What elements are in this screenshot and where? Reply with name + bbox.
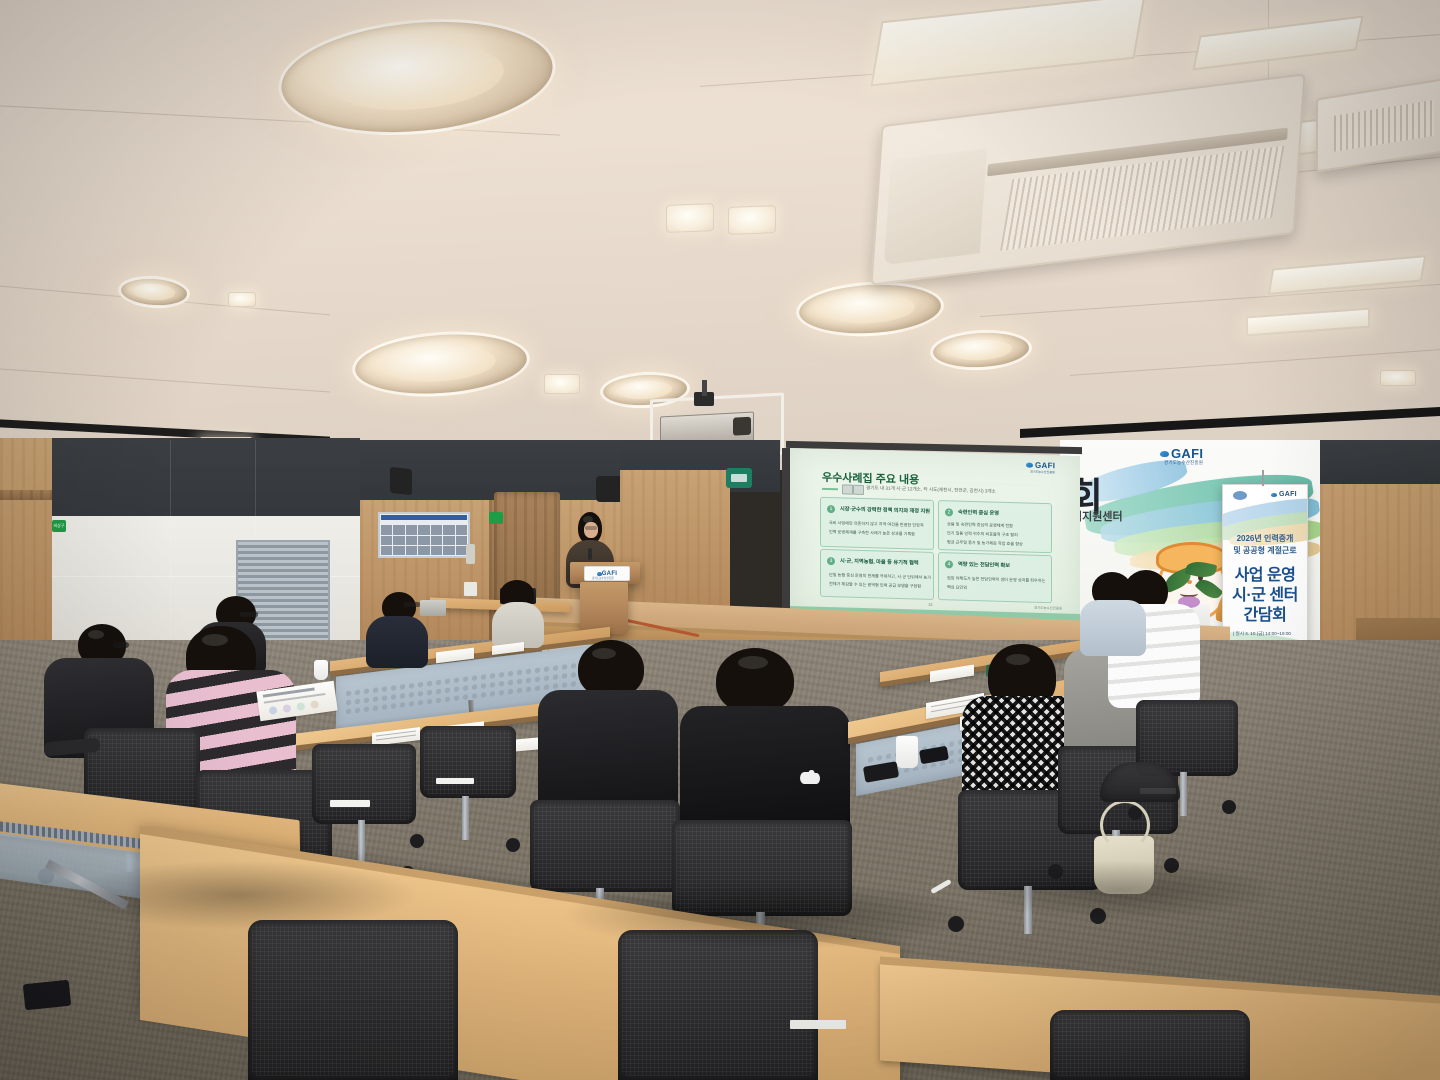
ceiling-downlight	[666, 203, 714, 233]
slide-box-1: 1 시장·군수의 강력한 정책 의지와 재정 지원 국비 사업에만 의존하지 않…	[820, 497, 934, 550]
chair-tag	[330, 800, 370, 807]
ceiling-downlight	[728, 205, 776, 235]
slide-subtitle: 경기도 내 31개 시·군 12개소, 타 시도(제천시, 전안군, 김천시) …	[866, 485, 996, 495]
projector-pole	[702, 380, 707, 396]
slide-box-3-number: 3	[827, 557, 835, 565]
podium-gafi-subtext: 경기도농수산진흥원	[592, 576, 613, 580]
back-wall-upper	[1320, 440, 1440, 484]
chair-back[interactable]	[420, 726, 516, 798]
exit-sign	[489, 512, 503, 524]
handbag-strap	[1100, 800, 1150, 850]
ceiling-downlight	[1380, 370, 1416, 386]
tabletop-object	[23, 980, 71, 1011]
wall-speaker	[390, 467, 412, 495]
attendee-body	[492, 602, 544, 648]
wall-wood-trim	[0, 490, 52, 500]
slide-bullet-chip	[842, 484, 853, 494]
slide-box-4: 4 역량 있는 전담인력 확보 현장 이해도가 높은 전담인력이 센터 운영 성…	[938, 552, 1052, 603]
exit-sign-label: 비상구	[53, 523, 64, 529]
floor-shadow	[60, 860, 420, 930]
slide-box-1-line: 인력 운영체계를 구축한 사례가 높은 성과를 기록함	[829, 529, 915, 537]
slide-box-4-line: 현장 이해도가 높은 전담인력이 센터 운영 성과를 좌우하는	[947, 575, 1045, 584]
chair-back[interactable]	[248, 920, 458, 1080]
slide-box-2-number: 2	[945, 508, 953, 516]
conference-room-photo: 비상구 GAFI 경기도농수산진흥원 회 력지원센터	[0, 0, 1440, 1080]
banner-gafi-logo: GAFI	[1271, 491, 1297, 498]
banner-line2: 및 공공형 계절근로	[1223, 545, 1307, 556]
projection-screen: GAFI 경기도농수산진흥원 우수사례집 주요 내용 경기도 내 31개 시·군…	[790, 448, 1080, 624]
slide-gafi-logo-subtext: 경기도농수산진흥원	[1030, 470, 1055, 475]
banner-gafi-logo-text: GAFI	[1279, 491, 1297, 498]
banner-line1: 2026년 인력중개	[1223, 533, 1307, 544]
banner-main3: 간담회	[1223, 601, 1307, 625]
chair-caster	[410, 834, 424, 848]
attendee-body	[1080, 600, 1146, 656]
wall-outlet	[464, 582, 477, 596]
laptop[interactable]	[420, 600, 446, 616]
floor-shadow	[560, 880, 980, 950]
slide-box-3: 3 시·군, 지역농협, 마을 등 유기적 협력 단일 농협 중심 운영의 한계…	[820, 549, 934, 600]
slide-bullet-chip	[853, 485, 864, 495]
chair-post	[462, 796, 469, 840]
gafi-logo-text: GAFI	[1171, 446, 1203, 461]
floor-shadow	[960, 860, 1280, 920]
wall-wood-panel	[0, 438, 52, 648]
attendee-body	[680, 706, 850, 836]
slide-box-4-number: 4	[945, 560, 953, 568]
attendee-head	[716, 648, 794, 714]
exit-sign: 비상구	[52, 520, 66, 532]
wall-sign-green	[726, 468, 752, 488]
chair-post	[1180, 772, 1187, 816]
chair-tag	[790, 1020, 846, 1029]
ceiling-downlight	[544, 374, 580, 394]
paper-cup	[896, 736, 918, 768]
slide-box-4-heading: 역량 있는 전담인력 확보	[958, 561, 1010, 569]
screen-left-frame	[782, 448, 790, 626]
slide-box-3-line: 단일 농협 중심 운영의 한계를 극복하고, 시·군 단위에서 농가	[829, 572, 931, 581]
chair-back[interactable]	[618, 930, 818, 1080]
chair-back[interactable]	[1050, 1010, 1250, 1080]
chair-caster	[1222, 800, 1236, 814]
presenter-face	[584, 522, 598, 538]
attendee-glasses	[113, 642, 129, 648]
attendee-glasses	[404, 602, 420, 607]
chair-back[interactable]	[530, 800, 680, 892]
paper-cup	[314, 660, 328, 680]
slide-box-4-line: 핵심 요인임	[947, 584, 967, 591]
banner-pole	[1262, 470, 1264, 486]
slide-footer-org: 경기도농수산진흥원	[1034, 605, 1062, 611]
north-face-logo	[800, 770, 820, 784]
slide-box-1-number: 1	[827, 505, 835, 513]
gafi-logo-wall: GAFI	[1160, 446, 1203, 461]
slide-box-1-heading: 시장·군수의 강력한 정책 의지와 재정 지원	[840, 505, 930, 515]
banner-detail-datetime: | 일시 4. 10.(금) 14:00~16:00	[1233, 631, 1291, 637]
attendee-body	[366, 616, 428, 668]
photo-display-board	[378, 512, 470, 558]
slide-box-2-heading: 숙련인력 중심 운영	[958, 509, 999, 517]
chair-back[interactable]	[312, 744, 416, 824]
slide-box-2-line: 상용 및 숙련인력 중심의 운영체계 전환	[947, 521, 1013, 529]
microphone	[588, 548, 592, 560]
podium-column	[580, 582, 628, 634]
ceiling-downlight	[228, 292, 256, 307]
slide-box-2-line: 평균 근무일 증가 및 농가체감 작업 효율 향상	[947, 539, 1023, 547]
slide-box-3-heading: 시·군, 지역농협, 마을 등 유기적 협력	[840, 557, 919, 566]
wall-wood-panel	[620, 470, 730, 610]
attendee-body	[538, 690, 678, 818]
slide-box-3-line: 전체가 체감할 수 있는 광역형 인력 공급 모델을 구현함	[829, 581, 921, 590]
chair-tag	[436, 778, 474, 784]
chair-caster	[506, 838, 520, 852]
wall-switch-panel[interactable]	[466, 544, 475, 564]
slide-box-2: 2 숙련인력 중심 운영 상용 및 숙련인력 중심의 운영체계 전환 단기 일용…	[938, 500, 1052, 553]
slide-page-number: 13	[928, 602, 932, 607]
slide-box-2-line: 단기 일용 인력 위주의 비효율적 구조 탈피	[947, 530, 1018, 538]
gafi-logo-subtext: 경기도농수산진흥원	[1164, 460, 1203, 466]
presenter-glasses	[585, 526, 597, 530]
banner-secondary-logo	[1233, 491, 1247, 500]
attendee-glasses	[240, 612, 258, 617]
slide-box-1-line: 국비 사업에만 의존하지 않고 지역 여건을 반영한 안정적	[829, 520, 924, 529]
